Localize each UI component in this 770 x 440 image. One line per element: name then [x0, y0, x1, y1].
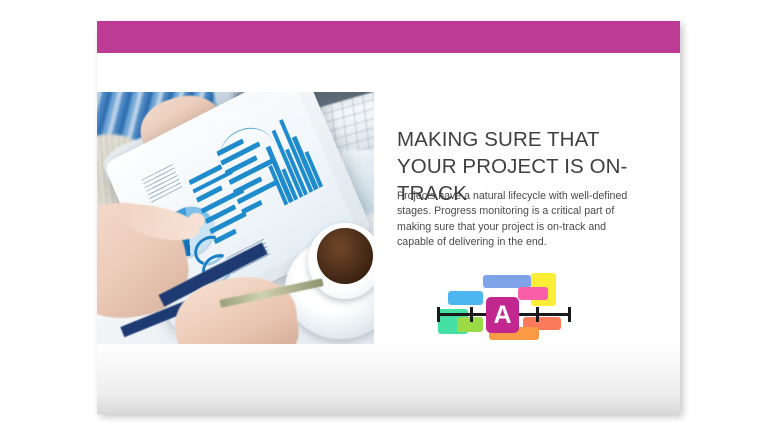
slide-footer-band — [97, 343, 680, 414]
presentation-slide: MAKING SURE THAT YOUR PROJECT IS ON-TRAC… — [97, 21, 680, 414]
photo-fingernail — [188, 213, 205, 228]
photo-composition — [97, 92, 374, 344]
screenshot-canvas: MAKING SURE THAT YOUR PROJECT IS ON-TRAC… — [0, 0, 770, 440]
bar-pink — [518, 287, 548, 300]
project-timeline-graphic: A — [435, 269, 573, 333]
photo-bar — [241, 200, 263, 215]
timeline-tick — [470, 307, 473, 322]
photo-coffee-liquid — [317, 228, 372, 283]
timeline-tick — [437, 307, 440, 322]
project-logo-badge: A — [486, 297, 519, 333]
project-logo-letter: A — [493, 303, 511, 328]
slide-photo — [97, 92, 374, 344]
timeline-tick — [536, 307, 539, 322]
photo-bar — [214, 229, 238, 244]
bar-blue-lower — [448, 291, 483, 305]
slide-top-banner — [97, 21, 680, 53]
slide-body-text: Projects have a natural lifecycle with w… — [397, 189, 641, 251]
photo-screen-text-block — [142, 164, 183, 203]
timeline-tick — [568, 307, 571, 322]
